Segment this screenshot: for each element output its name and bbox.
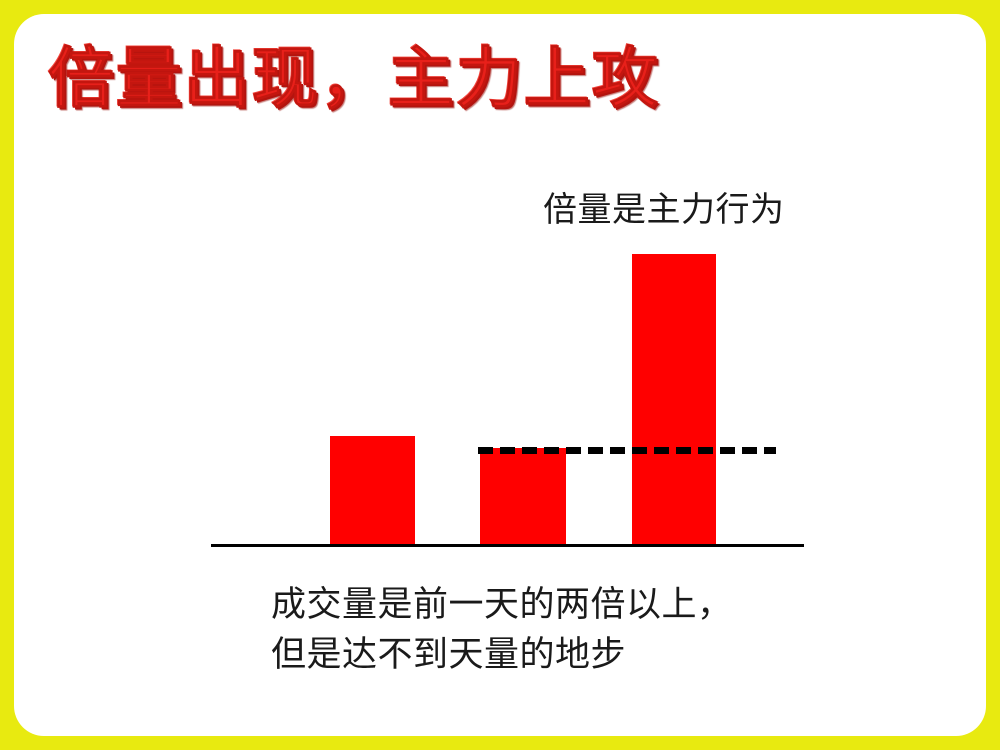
slide-frame: 倍量出现，主力上攻 倍量是主力行为 成交量是前一天的两倍以上， 但是达不到天量的… [0,0,1000,750]
bar-day-1 [330,436,415,545]
caption-line-1: 成交量是前一天的两倍以上， [271,580,733,630]
slide-card: 倍量出现，主力上攻 倍量是主力行为 成交量是前一天的两倍以上， 但是达不到天量的… [14,14,986,736]
bar-day-2 [480,448,566,545]
chart-baseline-axis [211,544,804,547]
bar-day-3 [632,254,716,545]
watermark-text: 今日头条 [860,690,972,726]
reference-dashed-line [478,441,776,448]
chart-caption: 成交量是前一天的两倍以上， 但是达不到天量的地步 [271,580,733,680]
caption-line-2: 但是达不到天量的地步 [271,630,733,680]
